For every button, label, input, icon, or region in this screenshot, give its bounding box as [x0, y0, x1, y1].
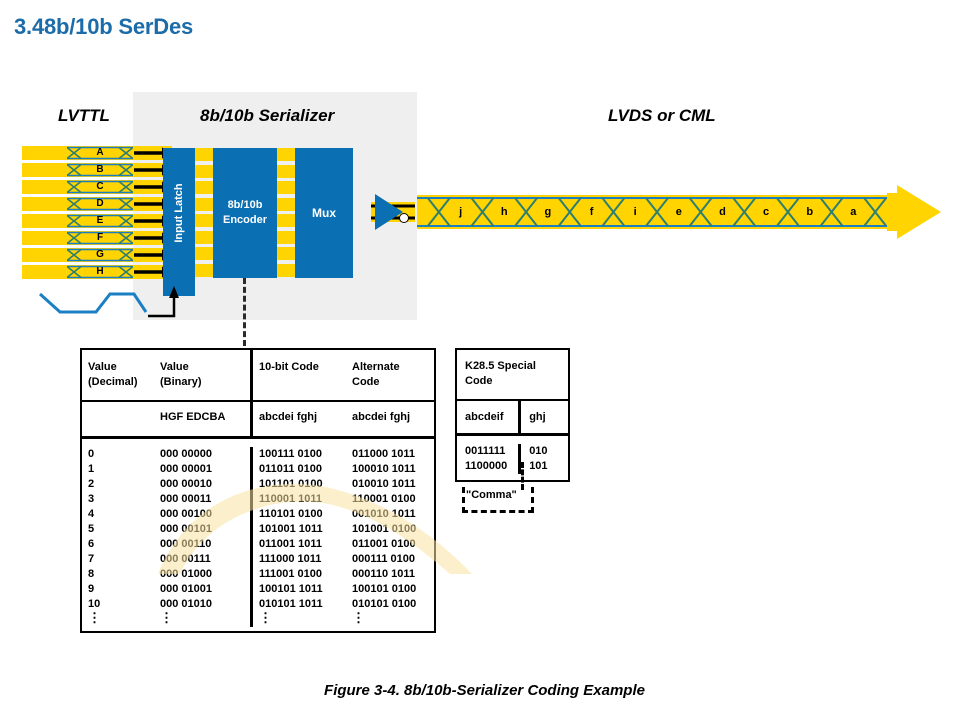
cell-code: 101101 0100: [250, 477, 346, 492]
cell-alternate: 110001 0100: [346, 492, 434, 507]
section-number: 3.4: [14, 14, 44, 40]
cell-decimal: 7: [82, 552, 154, 567]
cell-binary: 000 00011: [154, 492, 250, 507]
zone-label-lvds: LVDS or CML: [608, 106, 716, 126]
cell-decimal: 8: [82, 567, 154, 582]
cell-binary: 000 00110: [154, 537, 250, 552]
cell-code: 100111 0100: [250, 447, 346, 462]
bus-stub: [195, 181, 213, 194]
bus-stub: [277, 264, 295, 277]
cell-decimal: 3: [82, 492, 154, 507]
cell-alternate: 001010 1011: [346, 507, 434, 522]
block-mux: Mux: [295, 148, 353, 278]
header-value-decimal: Value (Decimal): [82, 350, 154, 400]
k28-cell-abcdeif: 1100000: [457, 459, 518, 474]
subheader-binary-bitorder: HGF EDCBA: [154, 402, 250, 436]
lane-label-h: H: [86, 265, 114, 279]
bus-stub: [277, 165, 295, 178]
lane-label-b: B: [86, 163, 114, 177]
bus-stub: [195, 214, 213, 227]
serial-bit-d: d: [700, 195, 744, 229]
cell-decimal: 5: [82, 522, 154, 537]
comma-label: "Comma": [466, 489, 517, 501]
table-row: 3000 00011110001 1011110001 0100: [82, 492, 434, 507]
cell-binary: 000 01001: [154, 582, 250, 597]
cell-binary: 000 00101: [154, 522, 250, 537]
encoder-to-table-connector: [243, 278, 248, 346]
lane-label-g: G: [86, 248, 114, 262]
serial-bit-g: g: [526, 195, 570, 229]
cell-decimal: 2: [82, 477, 154, 492]
serial-bit-e: e: [657, 195, 701, 229]
cell-alternate: 101001 0100: [346, 522, 434, 537]
zone-label-serializer: 8b/10b Serializer: [200, 106, 334, 126]
subheader-code-bitorder: abcdei fghj: [250, 402, 346, 436]
block-encoder-label-line1: 8b/10b: [228, 198, 263, 213]
table-header-row: Value (Decimal) Value (Binary) 10-bit Co…: [82, 350, 434, 402]
block-encoder-label-line2: Encoder: [223, 213, 267, 228]
k28-subheader-row: abcdeif ghj: [457, 401, 568, 436]
cell-decimal: 9: [82, 582, 154, 597]
bus-stub: [277, 198, 295, 211]
parallel-input-lanes: ABCDEFGH: [22, 146, 172, 286]
k28-title: K28.5 Special Code: [457, 350, 568, 401]
serial-bit-b: b: [788, 195, 832, 229]
cell-alternate: 100101 0100: [346, 582, 434, 597]
serial-bit-a: a: [831, 195, 875, 229]
subheader-decimal: [82, 402, 154, 436]
block-input-latch: Input Latch: [163, 148, 195, 278]
cell-alternate: 011000 1011: [346, 447, 434, 462]
zone-label-lvttl: LVTTL: [58, 106, 110, 126]
bus-stub: [277, 181, 295, 194]
cell-code: 111000 1011: [250, 552, 346, 567]
cell-code: 011001 1011: [250, 537, 346, 552]
continuation-decimal: ⋮: [82, 612, 154, 627]
cell-alternate: 011001 0100: [346, 537, 434, 552]
bus-stub: [277, 231, 295, 244]
cell-code: 110101 0100: [250, 507, 346, 522]
serial-output-stream: jhgfiedcba: [417, 195, 937, 229]
bus-stub: [195, 247, 213, 260]
line-driver-icon: [371, 188, 417, 236]
cell-binary: 000 00000: [154, 447, 250, 462]
cell-alternate: 000110 1011: [346, 567, 434, 582]
cell-binary: 000 00100: [154, 507, 250, 522]
table-row: 4000 00100110101 0100001010 1011: [82, 507, 434, 522]
block-mux-label: Mux: [312, 206, 336, 220]
cell-binary: 000 00001: [154, 462, 250, 477]
section-title: 8b/10b SerDes: [44, 14, 193, 40]
table-row: 8000 01000111001 0100000110 1011: [82, 567, 434, 582]
bus-stub: [195, 148, 213, 161]
block-8b10b-encoder: 8b/10b Encoder: [213, 148, 277, 278]
cell-alternate: 000111 0100: [346, 552, 434, 567]
cell-decimal: 6: [82, 537, 154, 552]
clock-connector-arrow: [148, 286, 188, 324]
clock-waveform-icon: [38, 288, 148, 322]
table-row: 9000 01001100101 1011100101 0100: [82, 582, 434, 597]
comma-box-divider: [521, 462, 524, 490]
bus-stub: [195, 198, 213, 211]
table-body: 0000 00000100111 0100011000 10111000 000…: [82, 439, 434, 631]
figure-caption: Figure 3-4. 8b/10b-Serializer Coding Exa…: [0, 682, 969, 699]
serdes-diagram: LVTTL 8b/10b Serializer LVDS or CML ABCD…: [0, 88, 969, 338]
cell-alternate: 100010 1011: [346, 462, 434, 477]
serial-bit-c: c: [744, 195, 788, 229]
serial-bit-f: f: [570, 195, 614, 229]
serial-bit-i: i: [613, 195, 657, 229]
cell-decimal: 0: [82, 447, 154, 462]
k28-row: 1100000101: [457, 459, 568, 474]
lane-label-c: C: [86, 180, 114, 194]
header-value-binary: Value (Binary): [154, 350, 250, 400]
cell-binary: 000 00111: [154, 552, 250, 567]
cell-binary: 000 00010: [154, 477, 250, 492]
header-10bit-code: 10-bit Code: [250, 350, 346, 400]
table-row: 7000 00111111000 1011000111 0100: [82, 552, 434, 567]
table-row: 10000 01010010101 1011010101 0100: [82, 597, 434, 612]
cell-code: 101001 1011: [250, 522, 346, 537]
lane-label-f: F: [86, 231, 114, 245]
coding-table: Value (Decimal) Value (Binary) 10-bit Co…: [80, 348, 436, 633]
bus-stub: [277, 214, 295, 227]
serial-bit-j: j: [439, 195, 483, 229]
bus-stub: [195, 231, 213, 244]
k28-body: 00111110101100000101: [457, 436, 568, 480]
bus-stub: [195, 264, 213, 277]
lane-label-a: A: [86, 146, 114, 160]
k28-subheader-left: abcdeif: [457, 401, 518, 433]
continuation-alternate: ⋮: [346, 612, 434, 627]
continuation-binary: ⋮: [154, 612, 250, 627]
cell-code: 111001 0100: [250, 567, 346, 582]
serial-bit-h: h: [482, 195, 526, 229]
table-row: 2000 00010101101 0100010010 1011: [82, 477, 434, 492]
k28-cell-abcdeif: 0011111: [457, 444, 518, 459]
table-row: 6000 00110011001 1011011001 0100: [82, 537, 434, 552]
cell-alternate: 010010 1011: [346, 477, 434, 492]
k28-subheader-right: ghj: [518, 401, 568, 433]
cell-code: 011011 0100: [250, 462, 346, 477]
cell-code: 100101 1011: [250, 582, 346, 597]
table-continuation-row: ⋮⋮⋮⋮: [82, 612, 434, 627]
block-input-latch-label: Input Latch: [173, 183, 185, 242]
table-row: 0000 00000100111 0100011000 1011: [82, 447, 434, 462]
header-alternate-code: Alternate Code: [346, 350, 434, 400]
table-row: 1000 00001011011 0100100010 1011: [82, 462, 434, 477]
lane-label-d: D: [86, 197, 114, 211]
k28-cell-ghj: 101: [518, 459, 568, 474]
continuation-code: ⋮: [250, 612, 346, 627]
lane-label-e: E: [86, 214, 114, 228]
table-row: 5000 00101101001 1011101001 0100: [82, 522, 434, 537]
cell-decimal: 1: [82, 462, 154, 477]
subheader-alternate-bitorder: abcdei fghj: [346, 402, 434, 436]
page-title: 3.4 8b/10b SerDes: [14, 14, 193, 40]
serial-arrowhead-icon: [887, 183, 943, 241]
cell-decimal: 4: [82, 507, 154, 522]
cell-binary: 000 01000: [154, 567, 250, 582]
bus-stub: [195, 165, 213, 178]
cell-code: 110001 1011: [250, 492, 346, 507]
k28-cell-ghj: 010: [518, 444, 568, 459]
bus-stub: [277, 247, 295, 260]
table-subheader-row: HGF EDCBA abcdei fghj abcdei fghj: [82, 402, 434, 439]
k28-row: 0011111010: [457, 444, 568, 459]
bus-stub: [277, 148, 295, 161]
k28-special-code-table: K28.5 Special Code abcdeif ghj 001111101…: [455, 348, 570, 482]
